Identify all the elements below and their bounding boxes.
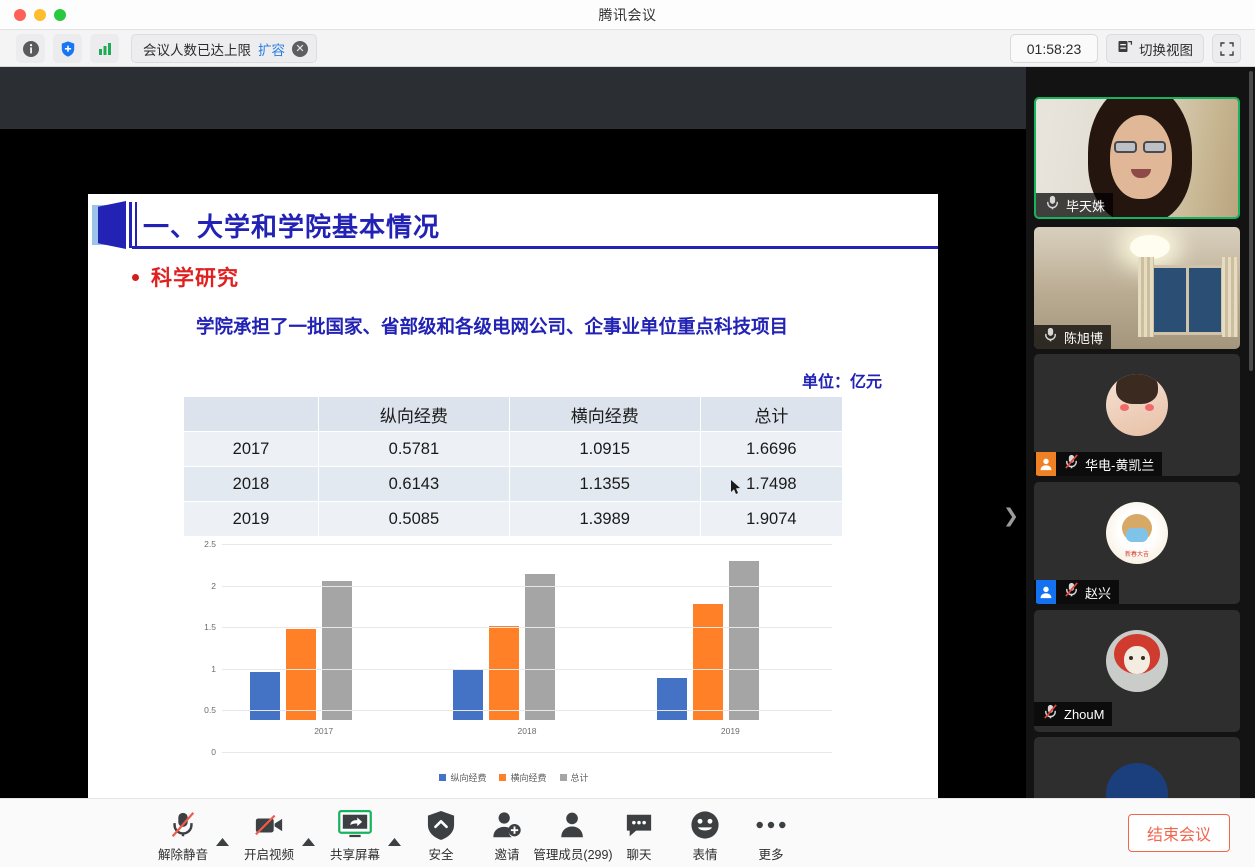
participant-mic-state [1061, 581, 1080, 603]
table-cell: 2018 [184, 467, 319, 502]
chart-y-tick: 1.5 [184, 622, 216, 632]
shield-icon [427, 809, 455, 841]
chart-y-tick: 2.5 [184, 539, 216, 549]
control-label: 表情 [692, 844, 717, 863]
shield-add-icon[interactable] [53, 34, 82, 63]
capacity-notice-text: 会议人数已达上限 [143, 39, 251, 59]
chart-legend-item: 纵向经费 [439, 771, 486, 784]
chart-y-tick: 1 [184, 664, 216, 674]
emoji-icon [690, 809, 720, 841]
chart-bar [453, 669, 483, 720]
chart-gridline [222, 669, 832, 670]
slide-paragraph: 学院承担了一批国家、省部级和各级电网公司、企事业单位重点科技项目 [196, 309, 912, 345]
participant-tile[interactable]: ZhouM [1034, 610, 1240, 732]
participant-name: 赵兴 [1085, 583, 1111, 602]
table-cell: 1.0915 [509, 432, 700, 467]
close-notice-button[interactable]: ✕ [292, 41, 308, 57]
chevron-up-icon[interactable] [388, 820, 408, 848]
mouse-cursor-icon [731, 480, 741, 495]
chart-legend-swatch [499, 774, 506, 781]
table-header-cell: 横向经费 [509, 397, 700, 432]
table-cell: 1.1355 [509, 467, 700, 502]
chart-bar-group: 2019 [629, 544, 832, 752]
table-cell: 1.3989 [509, 502, 700, 537]
control-more-dots[interactable]: 更多 [738, 803, 804, 863]
window-title: 腾讯会议 [0, 5, 1255, 25]
participant-name: 华电-黄凯兰 [1085, 455, 1154, 474]
mic-icon [1044, 194, 1061, 211]
mic-muted-icon [1063, 453, 1080, 470]
members-icon [558, 809, 588, 841]
slide-title-rule [132, 246, 938, 249]
title-decor-line1 [129, 202, 132, 248]
participant-mic-state [1036, 703, 1059, 725]
control-label: 更多 [758, 844, 783, 863]
slide-bullet-label: 科学研究 [151, 262, 239, 292]
funding-table: 纵向经费 横向经费 总计 2017 0.5781 1.0915 1.6696 2… [183, 396, 843, 537]
slide-unit-label: 单位：亿元 [802, 368, 882, 392]
table-cell: 1.9074 [700, 502, 842, 537]
participant-tile[interactable]: 毕天姝 [1034, 97, 1240, 219]
participant-nametag: 华电-黄凯兰 [1034, 452, 1162, 476]
video-off-icon [253, 809, 285, 841]
participant-nametag: 赵兴 [1034, 580, 1119, 604]
chart-bar [322, 581, 352, 720]
info-icon[interactable] [16, 34, 45, 63]
table-row: 2018 0.6143 1.1355 1.7498 [184, 467, 843, 502]
table-cell: 0.6143 [319, 467, 510, 502]
table-header-cell: 纵向经费 [319, 397, 510, 432]
chart-y-tick: 0 [184, 747, 216, 757]
chart-legend-swatch [439, 774, 446, 781]
table-row: 2017 0.5781 1.0915 1.6696 [184, 432, 843, 467]
fullscreen-icon[interactable] [1212, 34, 1241, 63]
chart-y-tick: 0.5 [184, 705, 216, 715]
host-role-icon [1036, 452, 1056, 476]
chart-gridline [222, 544, 832, 545]
chart-legend-label: 纵向经费 [450, 771, 486, 784]
control-share-screen[interactable]: 共享屏幕 [322, 803, 388, 863]
bullet-dot-icon [132, 274, 139, 281]
participant-tile[interactable]: 华电-黄凯兰 [1034, 354, 1240, 476]
meeting-timer: 01:58:23 [1010, 34, 1098, 63]
control-label: 邀请 [494, 844, 519, 863]
participant-tile[interactable]: 陈旭博 [1034, 227, 1240, 349]
control-emoji[interactable]: 表情 [672, 803, 738, 863]
meeting-toolbar: 会议人数已达上限 扩容 ✕ 01:58:23 切换视图 [0, 30, 1255, 67]
switch-view-label: 切换视图 [1139, 39, 1193, 59]
chart-legend-label: 横向经费 [510, 771, 546, 784]
participant-nametag: ZhouM [1034, 702, 1112, 726]
chevron-up-icon[interactable] [302, 820, 322, 848]
title-decor-line2 [135, 202, 137, 248]
participant-name: ZhouM [1064, 707, 1104, 722]
chart-gridline [222, 586, 832, 587]
participant-tile[interactable]: 新春大吉赵兴 [1034, 482, 1240, 604]
chart-x-tick: 2019 [629, 726, 832, 736]
chart-bar [489, 626, 519, 720]
participant-mic-state [1038, 194, 1061, 216]
share-screen-icon [338, 809, 372, 841]
end-meeting-button[interactable]: 结束会议 [1128, 814, 1230, 852]
chart-gridline [222, 627, 832, 628]
table-row: 2019 0.5085 1.3989 1.9074 [184, 502, 843, 537]
slide-title-block: 一、大学和学院基本情况 [88, 199, 938, 251]
participant-mic-state [1036, 326, 1059, 348]
presentation-slide: 一、大学和学院基本情况 科学研究 学院承担了一批国家、省部级和各级电网公司、企事… [88, 194, 938, 830]
table-header-row: 纵向经费 横向经费 总计 [184, 397, 843, 432]
participant-tile[interactable] [1034, 737, 1240, 798]
chart-legend-label: 总计 [571, 771, 589, 784]
control-chat[interactable]: 聊天 [606, 803, 672, 863]
chart-bar [657, 678, 687, 720]
shared-screen-stage: ❯ 一、大学和学院基本情况 科学研究 学院承担了一批国家、省部级和各级电网公司、… [0, 67, 1026, 798]
table-cell: 1.6696 [700, 432, 842, 467]
mic-muted-icon [1042, 703, 1059, 720]
stage-top-band [0, 67, 1026, 129]
toolbar-left-group: 会议人数已达上限 扩容 ✕ [16, 34, 317, 63]
chart-bar [693, 604, 723, 720]
window-titlebar: 腾讯会议 [0, 0, 1255, 30]
control-label: 聊天 [626, 844, 651, 863]
chart-x-tick: 2018 [425, 726, 628, 736]
control-buttons: 解除静音开启视频共享屏幕安全邀请管理成员(299)聊天表情更多 [150, 803, 804, 865]
invite-icon [492, 809, 522, 841]
collapse-rail-chevron-icon[interactable]: ❯ [1002, 496, 1020, 536]
slide-title: 一、大学和学院基本情况 [143, 207, 440, 244]
expand-capacity-link[interactable]: 扩容 [258, 39, 285, 59]
chart-x-tick: 2017 [222, 726, 425, 736]
host-role-icon [1036, 580, 1056, 604]
chart-gridline [222, 752, 832, 753]
mic-muted-icon [1063, 581, 1080, 598]
funding-bar-chart: 201720182019 纵向经费横向经费总计 00.511.522.5 [184, 544, 844, 784]
table-cell: 2017 [184, 432, 319, 467]
signal-bars-icon[interactable] [90, 34, 119, 63]
chevron-up-icon[interactable] [216, 820, 236, 848]
table-cell: 0.5781 [319, 432, 510, 467]
table-header-cell: 总计 [700, 397, 842, 432]
chart-gridline [222, 710, 832, 711]
toolbar-right-group: 01:58:23 切换视图 [1010, 34, 1241, 63]
switch-view-icon [1117, 39, 1133, 58]
control-invite[interactable]: 邀请 [474, 803, 540, 863]
chat-icon [625, 809, 653, 841]
meeting-control-bar: 解除静音开启视频共享屏幕安全邀请管理成员(299)聊天表情更多 结束会议 [0, 798, 1255, 867]
table-cell: 2019 [184, 502, 319, 537]
control-members[interactable]: 管理成员(299) [540, 803, 606, 863]
title-decor-dark [98, 201, 126, 249]
control-label: 开启视频 [244, 844, 294, 863]
participant-mic-state [1061, 453, 1080, 475]
participant-nametag: 陈旭博 [1034, 325, 1111, 349]
participant-name: 陈旭博 [1064, 328, 1103, 347]
control-label: 共享屏幕 [330, 844, 380, 863]
control-video-off[interactable]: 开启视频 [236, 803, 302, 863]
chart-bar-group: 2018 [425, 544, 628, 752]
chart-y-tick: 2 [184, 581, 216, 591]
control-label: 安全 [428, 844, 453, 863]
rail-scrollbar[interactable] [1249, 71, 1253, 371]
control-mic-muted[interactable]: 解除静音 [150, 803, 216, 863]
more-dots-icon [755, 809, 787, 841]
control-label: 管理成员(299) [533, 844, 612, 863]
participant-nametag: 毕天姝 [1036, 193, 1113, 217]
participant-rail[interactable]: 毕天姝陈旭博华电-黄凯兰新春大吉赵兴ZhouM [1026, 67, 1255, 798]
control-shield[interactable]: 安全 [408, 803, 474, 863]
table-cell: 1.7498 [700, 467, 842, 502]
chart-legend-swatch [560, 774, 567, 781]
mic-icon [1042, 326, 1059, 343]
chart-bar-group: 2017 [222, 544, 425, 752]
chart-legend-item: 总计 [560, 771, 589, 784]
capacity-notice: 会议人数已达上限 扩容 ✕ [131, 34, 317, 63]
table-header-cell [184, 397, 319, 432]
control-label: 解除静音 [158, 844, 208, 863]
switch-view-button[interactable]: 切换视图 [1106, 34, 1204, 63]
mic-muted-icon [168, 809, 198, 841]
tencent-meeting-window: 腾讯会议 会议人数已达上限 扩容 ✕ 01:58:23 [0, 0, 1255, 867]
slide-bullet: 科学研究 [132, 262, 239, 292]
chart-bar [286, 629, 316, 720]
chart-bar [250, 672, 280, 720]
chart-bar [525, 574, 555, 720]
chart-plot-area: 201720182019 [222, 544, 832, 752]
chart-legend-item: 横向经费 [499, 771, 546, 784]
table-cell: 0.5085 [319, 502, 510, 537]
participant-name: 毕天姝 [1066, 196, 1105, 215]
chart-legend: 纵向经费横向经费总计 [184, 771, 844, 784]
